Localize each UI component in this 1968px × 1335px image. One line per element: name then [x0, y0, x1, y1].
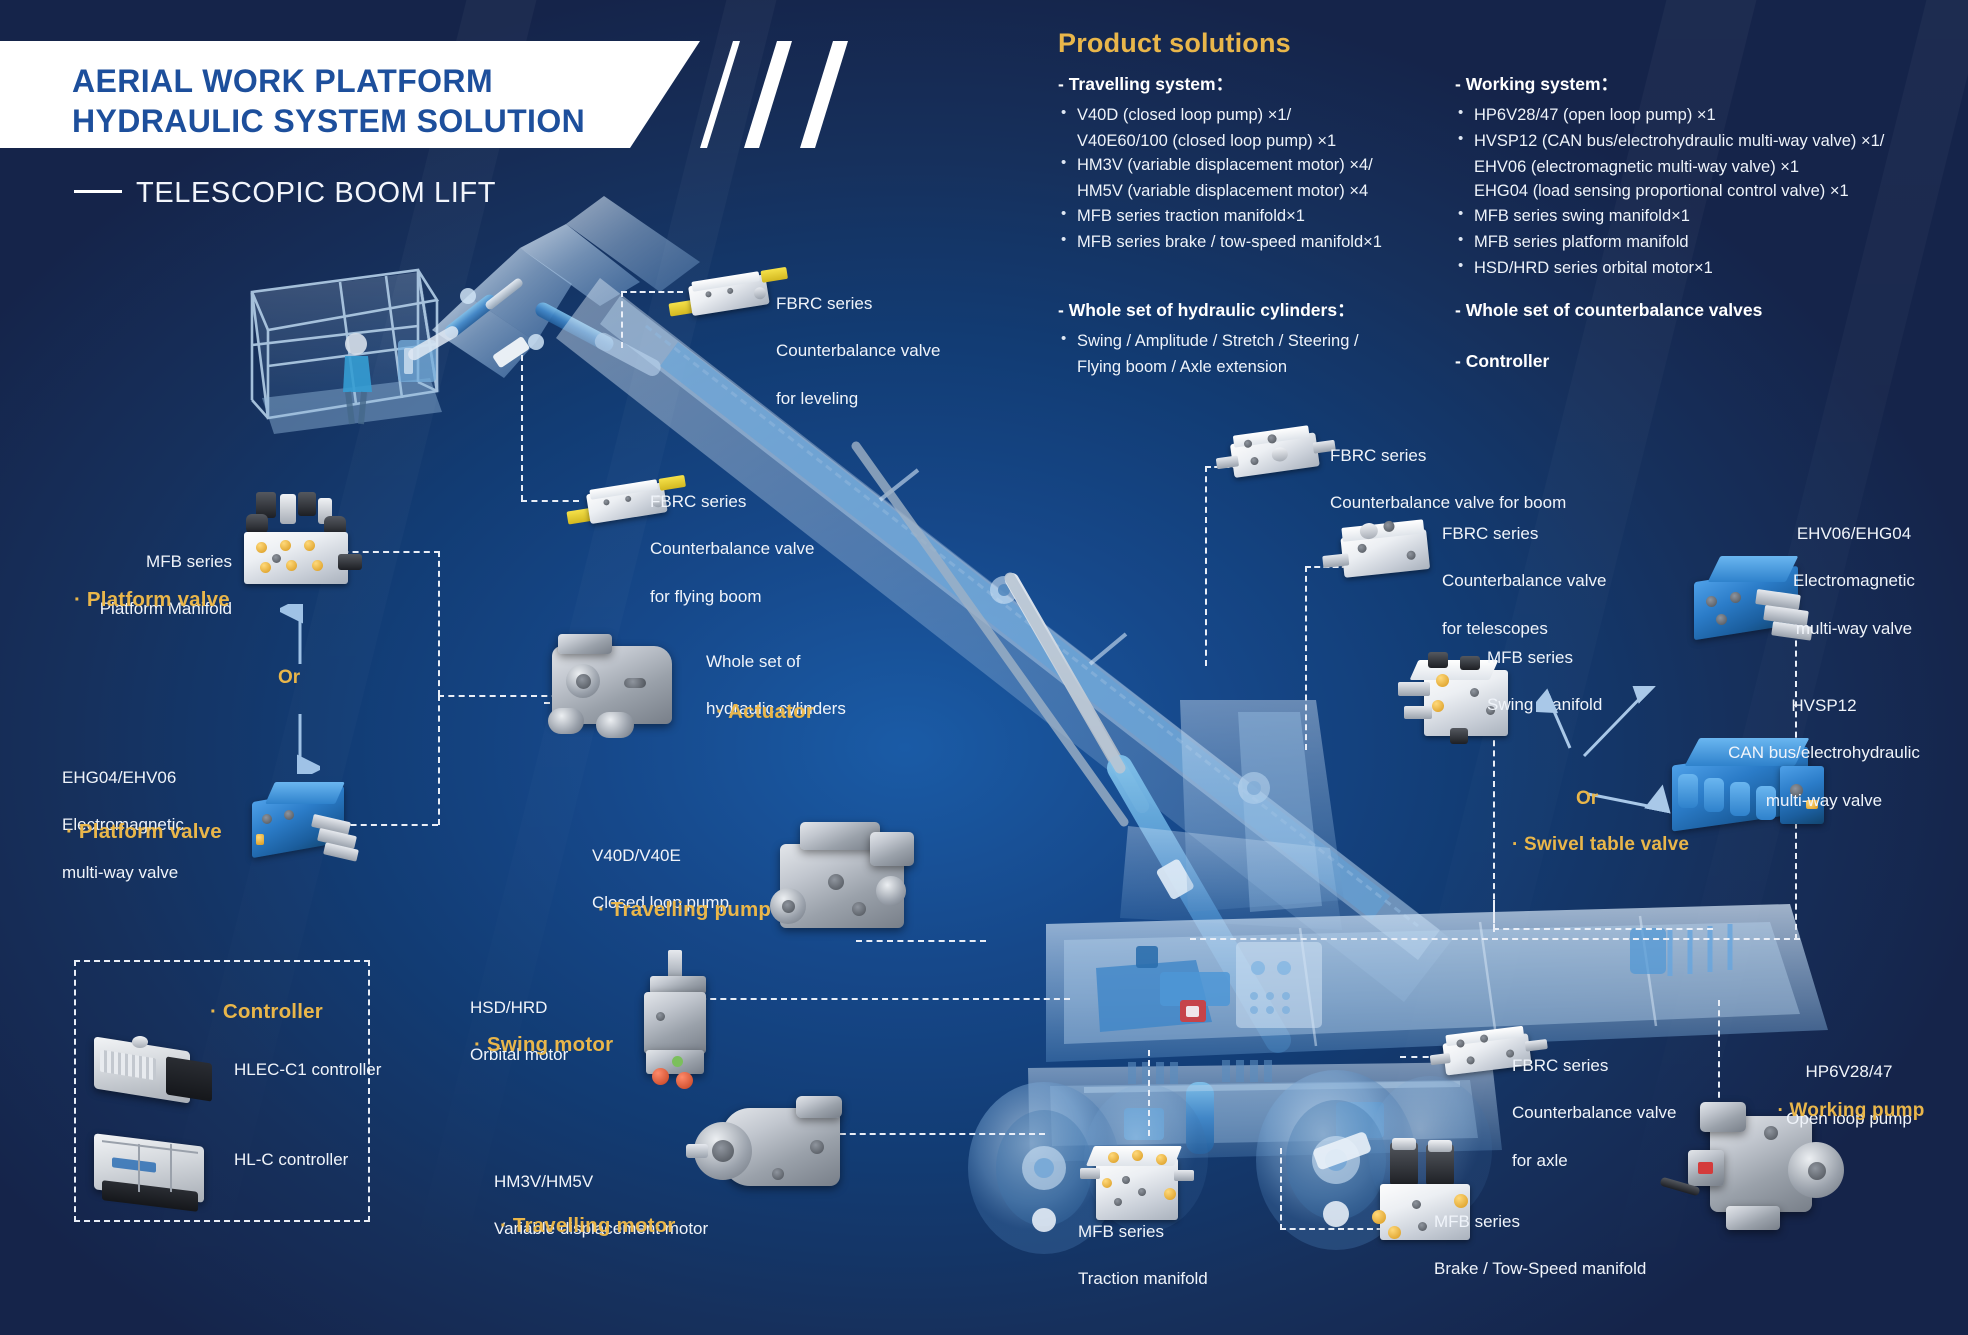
ehg04-ehv06-valve-image — [248, 776, 378, 866]
group-line — [1493, 900, 1495, 932]
list-item: V40E60/100 (closed loop pump) ×1 — [1058, 129, 1478, 153]
label-line: HM3V/HM5V — [494, 1170, 708, 1194]
callout-mfb-traction: MFB series Traction manifold — [1078, 1196, 1208, 1315]
label-line: HSD/HRD — [470, 996, 568, 1020]
counterbalance-controller-block: - Whole set of counterbalance valves - C… — [1455, 298, 1935, 379]
callout-mfb-brake: MFB series Brake / Tow-Speed manifold — [1434, 1186, 1646, 1305]
label-line: MFB series — [1078, 1220, 1208, 1244]
working-system-block: - Working system： HP6V28/47 (open loop p… — [1455, 72, 1965, 282]
leader-line — [1493, 928, 1713, 930]
tag-working-pump: · Working pump — [1746, 1100, 1956, 1122]
label-line: FBRC series — [650, 490, 814, 514]
label-line: EHG04/EHV06 — [62, 766, 184, 790]
list-item: MFB series swing manifold×1 — [1455, 204, 1965, 228]
tag-platform-valve-top: · Platform valve — [74, 588, 230, 612]
tag-travelling-pump: · Travelling pump — [598, 898, 771, 922]
list-item: MFB series traction manifold×1 — [1058, 204, 1478, 228]
list-item: Flying boom / Axle extension — [1058, 355, 1458, 379]
leader-line — [1205, 466, 1207, 666]
callout-travelling-motor: HM3V/HM5V Variable displacement motor — [494, 1146, 708, 1265]
banner-stripe-1 — [700, 41, 740, 148]
label-line: Counterbalance valve — [776, 339, 940, 363]
tag-swivel-table-valve: · Swivel table valve — [1512, 834, 1689, 856]
list-item: EHG04 (load sensing proportional control… — [1455, 179, 1965, 203]
product-solutions-title: Product solutions — [1058, 28, 1291, 59]
list-item: EHV06 (electromagnetic multi-way valve) … — [1455, 155, 1965, 179]
controller-heading: - Controller — [1455, 349, 1935, 375]
label-line: multi-way valve — [1740, 617, 1968, 641]
leader-line — [1148, 1050, 1150, 1136]
travelling-system-block: - Travelling system： V40D (closed loop p… — [1058, 72, 1478, 256]
label-line: FBRC series — [776, 292, 940, 316]
tag-controller: · Controller — [210, 1000, 323, 1024]
label-line: HVSP12 — [1680, 694, 1968, 718]
page-title-line1: AERIAL WORK PLATFORM — [72, 62, 692, 102]
callout-swing-motor: HSD/HRD Orbital motor — [470, 972, 568, 1091]
label-line: Brake / Tow-Speed manifold — [1434, 1257, 1646, 1281]
leader-line — [690, 998, 1070, 1000]
label-line: multi-way valve — [1680, 789, 1968, 813]
label-line: Electromagnetic — [1740, 569, 1968, 593]
callout-fbrc-flying-boom: FBRC series Counterbalance valve for fly… — [650, 466, 814, 633]
label-line: FBRC series — [1512, 1054, 1676, 1078]
leader-line — [1718, 1000, 1720, 1108]
list-item: HSD/HRD series orbital motor×1 — [1455, 256, 1965, 280]
or-arrows-left — [280, 604, 320, 774]
callout-fbrc-axle: FBRC series Counterbalance valve for axl… — [1512, 1030, 1676, 1197]
label-line: multi-way valve — [62, 861, 184, 885]
label-line: FBRC series — [1442, 522, 1606, 546]
cylinders-heading: - Whole set of hydraulic cylinders： — [1058, 298, 1458, 324]
list-item: HM3V (variable displacement motor) ×4/ — [1058, 153, 1478, 177]
label-line: Counterbalance valve — [1442, 569, 1606, 593]
hydraulic-cylinder-actuator-image — [540, 630, 690, 745]
page-title-line2: HYDRAULIC SYSTEM SOLUTION — [72, 102, 692, 142]
list-item: V40D (closed loop pump) ×1/ — [1058, 103, 1478, 127]
label-line: Counterbalance valve — [650, 537, 814, 561]
callout-mfb-platform-manifold: MFB series Platform Manifold — [20, 526, 232, 645]
subtitle-text: TELESCOPIC BOOM LIFT — [136, 177, 496, 209]
leader-line — [438, 551, 440, 696]
callout-ehv06-ehg04-right: EHV06/EHG04 Electromagnetic multi-way va… — [1740, 498, 1968, 665]
banner-stripe-3 — [800, 41, 848, 148]
label-line: V40D/V40E — [592, 844, 729, 868]
label-line: for axle — [1512, 1149, 1676, 1173]
leader-line — [621, 291, 623, 348]
leader-line — [1190, 938, 1800, 940]
poster-canvas: AERIAL WORK PLATFORM HYDRAULIC SYSTEM SO… — [0, 0, 1968, 1335]
list-item: HM5V (variable displacement motor) ×4 — [1058, 179, 1478, 203]
controller-item-2-label: HL-C controller — [234, 1148, 348, 1172]
or-label-right: Or — [1576, 788, 1598, 810]
banner-stripe-2 — [744, 41, 792, 148]
label-line: for flying boom — [650, 585, 814, 609]
tag-platform-valve-bottom: · Platform valve — [66, 820, 222, 844]
page-title: AERIAL WORK PLATFORM HYDRAULIC SYSTEM SO… — [72, 62, 692, 141]
label-line: FBRC series — [1330, 444, 1566, 468]
leader-line — [521, 345, 523, 501]
label-line: MFB series — [1434, 1210, 1646, 1234]
callout-fbrc-leveling: FBRC series Counterbalance valve for lev… — [776, 268, 940, 435]
label-line: MFB series — [1487, 646, 1602, 670]
label-line: CAN bus/electrohydraulic — [1680, 741, 1968, 765]
hm3v-hm5v-motor-image — [686, 1092, 856, 1212]
leader-line — [1305, 566, 1307, 750]
list-item: HVSP12 (CAN bus/electrohydraulic multi-w… — [1455, 129, 1965, 153]
label-line: Counterbalance valve — [1512, 1101, 1676, 1125]
subtitle-dash — [74, 190, 122, 193]
controller-item-1-label: HLEC-C1 controller — [234, 1058, 381, 1082]
list-item: MFB series platform manifold — [1455, 230, 1965, 254]
label-line: EHV06/EHG04 — [1740, 522, 1968, 546]
tag-actuator: · Actuator — [716, 700, 814, 724]
list-item: Swing / Amplitude / Stretch / Steering / — [1058, 329, 1458, 353]
fbrc-boom-valve-image — [1212, 418, 1339, 494]
callout-working-pump: HP6V28/47 Open loop pump — [1744, 1036, 1954, 1155]
v40-closed-loop-pump-image — [766, 818, 926, 946]
label-line: Whole set of — [706, 650, 846, 674]
leader-line — [438, 695, 440, 825]
tag-travelling-motor: · Travelling motor — [500, 1214, 676, 1238]
leader-line — [1280, 1148, 1282, 1230]
tag-swing-motor: · Swing motor — [474, 1033, 613, 1057]
hsd-hrd-orbital-motor-image — [622, 950, 732, 1090]
label-line: for leveling — [776, 387, 940, 411]
label-line: HP6V28/47 — [1744, 1060, 1954, 1084]
label-line: MFB series — [20, 550, 232, 574]
list-item: MFB series brake / tow-speed manifold×1 — [1058, 230, 1478, 254]
mfb-platform-manifold-image — [238, 492, 368, 602]
page-subtitle: TELESCOPIC BOOM LIFT — [74, 177, 496, 210]
callout-hvsp12: HVSP12 CAN bus/electrohydraulic multi-wa… — [1680, 670, 1968, 837]
label-line: Traction manifold — [1078, 1267, 1208, 1291]
or-label-left: Or — [278, 667, 300, 689]
working-system-heading: - Working system： — [1455, 72, 1965, 98]
list-item: HP6V28/47 (open loop pump) ×1 — [1455, 103, 1965, 127]
hydraulic-cylinders-block: - Whole set of hydraulic cylinders： Swin… — [1058, 298, 1458, 379]
counterbalance-heading: - Whole set of counterbalance valves — [1455, 298, 1935, 324]
callout-hydraulic-cylinders: Whole set of hydraulic cylinders — [706, 626, 846, 745]
travelling-system-heading: - Travelling system： — [1058, 72, 1478, 98]
